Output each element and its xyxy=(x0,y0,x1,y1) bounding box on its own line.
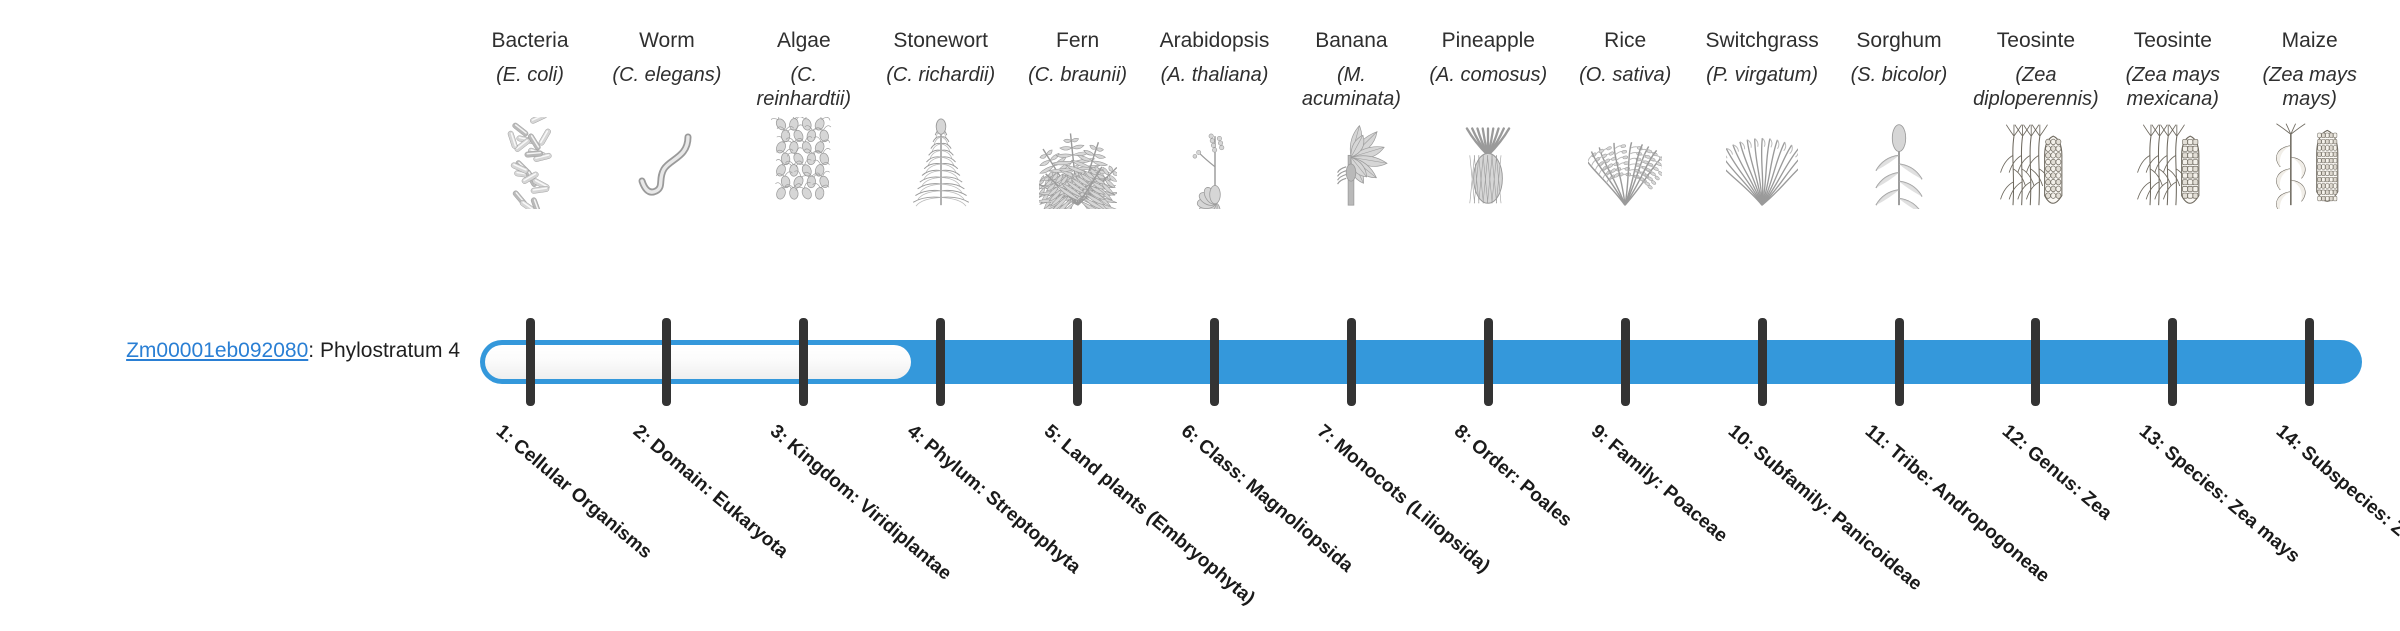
gene-phylostratum-label: Zm00001eb092080: Phylostratum 4 xyxy=(40,338,460,364)
species-common-name: Stonewort xyxy=(878,28,1004,53)
species-column: Arabidopsis(A. thaliana) xyxy=(1152,28,1278,209)
gene-label-separator: : xyxy=(308,339,320,362)
phylostratum-tick[interactable] xyxy=(936,318,945,406)
gene-id-link[interactable]: Zm00001eb092080 xyxy=(126,339,308,362)
species-column: Teosinte(Zea diploperennis) xyxy=(1973,28,2099,209)
taxonomy-rank-label: 7: Monocots (Liliopsida) xyxy=(1312,420,1557,631)
switchgrass-icon xyxy=(1699,117,1825,209)
species-common-name: Sorghum xyxy=(1836,28,1962,53)
taxonomy-rank-label: 4: Phylum: Streptophyta xyxy=(901,420,1146,631)
algae-icon xyxy=(741,117,867,209)
species-common-name: Teosinte xyxy=(1973,28,2099,53)
species-common-name: Banana xyxy=(1288,28,1414,53)
phylostratum-tick[interactable] xyxy=(1073,318,1082,406)
taxonomy-rank-label: 1: Cellular Organisms xyxy=(491,420,736,631)
species-common-name: Fern xyxy=(1015,28,1141,53)
species-column: Teosinte(Zea mays mexicana) xyxy=(2110,28,2236,209)
phylostratum-tick[interactable] xyxy=(1621,318,1630,406)
phylostratum-tick[interactable] xyxy=(662,318,671,406)
species-column: Rice(O. sativa) xyxy=(1562,28,1688,209)
species-scientific-name: (C. elegans) xyxy=(604,63,730,111)
fern-icon xyxy=(1015,117,1141,209)
rice-icon xyxy=(1562,117,1688,209)
species-scientific-name: (A. comosus) xyxy=(1425,63,1551,111)
taxonomy-rank-label: 5: Land plants (Embryophyta) xyxy=(1038,420,1283,631)
species-common-name: Arabidopsis xyxy=(1152,28,1278,53)
species-scientific-name: (O. sativa) xyxy=(1562,63,1688,111)
species-column: Switchgrass(P. virgatum) xyxy=(1699,28,1825,209)
taxonomy-rank-label: 11: Tribe: Andropogoneae xyxy=(1860,420,2105,631)
species-scientific-name: (S. bicolor) xyxy=(1836,63,1962,111)
species-column: Worm(C. elegans) xyxy=(604,28,730,209)
arabidopsis-icon xyxy=(1152,117,1278,209)
teosinte-mexicana-icon xyxy=(2110,117,2236,209)
species-common-name: Maize xyxy=(2247,28,2373,53)
sorghum-icon xyxy=(1836,117,1962,209)
species-column: Banana(M. acuminata) xyxy=(1288,28,1414,209)
teosinte-diplo-icon xyxy=(1973,117,2099,209)
species-scientific-name: (C. braunii) xyxy=(1015,63,1141,111)
taxonomy-rank-label: 13: Species: Zea mays xyxy=(2133,420,2378,631)
species-common-name: Bacteria xyxy=(467,28,593,53)
species-common-name: Worm xyxy=(604,28,730,53)
maize-icon xyxy=(2247,117,2373,209)
phylostratum-tick[interactable] xyxy=(2168,318,2177,406)
pineapple-icon xyxy=(1425,117,1551,209)
species-common-name: Algae xyxy=(741,28,867,53)
taxonomy-rank-label: 2: Domain: Eukaryota xyxy=(627,420,872,631)
progress-bar-unfilled-region xyxy=(485,345,911,379)
taxonomy-rank-label: 12: Genus: Zea xyxy=(1996,420,2241,631)
species-column: Maize(Zea mays mays) xyxy=(2247,28,2373,209)
species-scientific-name: (P. virgatum) xyxy=(1699,63,1825,111)
phylostratum-tick[interactable] xyxy=(1210,318,1219,406)
banana-icon xyxy=(1288,117,1414,209)
phylostratum-tick[interactable] xyxy=(1895,318,1904,406)
phylostratum-tick[interactable] xyxy=(2305,318,2314,406)
species-scientific-name: (E. coli) xyxy=(467,63,593,111)
species-common-name: Switchgrass xyxy=(1699,28,1825,53)
stonewort-icon xyxy=(878,117,1004,209)
species-column: Sorghum(S. bicolor) xyxy=(1836,28,1962,209)
phylostratum-value: Phylostratum 4 xyxy=(320,339,460,362)
phylostratum-tick[interactable] xyxy=(526,318,535,406)
species-common-name: Teosinte xyxy=(2110,28,2236,53)
species-column: Bacteria(E. coli) xyxy=(467,28,593,209)
phylostratum-timeline: Zm00001eb092080: Phylostratum 4 Bacteria… xyxy=(0,0,2400,580)
bacteria-icon xyxy=(467,117,593,209)
species-scientific-name: (Zea mays mays) xyxy=(2247,63,2373,111)
phylostratum-tick[interactable] xyxy=(799,318,808,406)
species-common-name: Pineapple xyxy=(1425,28,1551,53)
species-scientific-name: (Zea mays mexicana) xyxy=(2110,63,2236,111)
phylostratum-tick[interactable] xyxy=(1758,318,1767,406)
species-scientific-name: (A. thaliana) xyxy=(1152,63,1278,111)
species-column: Pineapple(A. comosus) xyxy=(1425,28,1551,209)
taxonomy-rank-label: 3: Kingdom: Viridiplantae xyxy=(764,420,1009,631)
species-column: Stonewort(C. richardii) xyxy=(878,28,1004,209)
phylostratum-tick[interactable] xyxy=(2031,318,2040,406)
worm-icon xyxy=(604,117,730,209)
species-common-name: Rice xyxy=(1562,28,1688,53)
taxonomy-rank-label: 8: Order: Poales xyxy=(1449,420,1694,631)
species-scientific-name: (M. acuminata) xyxy=(1288,63,1414,111)
taxonomy-rank-label: 6: Class: Magnoliopsida xyxy=(1175,420,1420,631)
species-column: Fern(C. braunii) xyxy=(1015,28,1141,209)
taxonomy-rank-label: 10: Subfamily: Panicoideae xyxy=(1723,420,1968,631)
taxonomy-rank-label: 9: Family: Poaceae xyxy=(1586,420,1831,631)
phylostratum-progress-bar[interactable] xyxy=(480,340,2362,384)
species-scientific-name: (C. reinhardtii) xyxy=(741,63,867,111)
phylostratum-tick[interactable] xyxy=(1484,318,1493,406)
species-column: Algae(C. reinhardtii) xyxy=(741,28,867,209)
species-scientific-name: (C. richardii) xyxy=(878,63,1004,111)
phylostratum-tick[interactable] xyxy=(1347,318,1356,406)
species-scientific-name: (Zea diploperennis) xyxy=(1973,63,2099,111)
